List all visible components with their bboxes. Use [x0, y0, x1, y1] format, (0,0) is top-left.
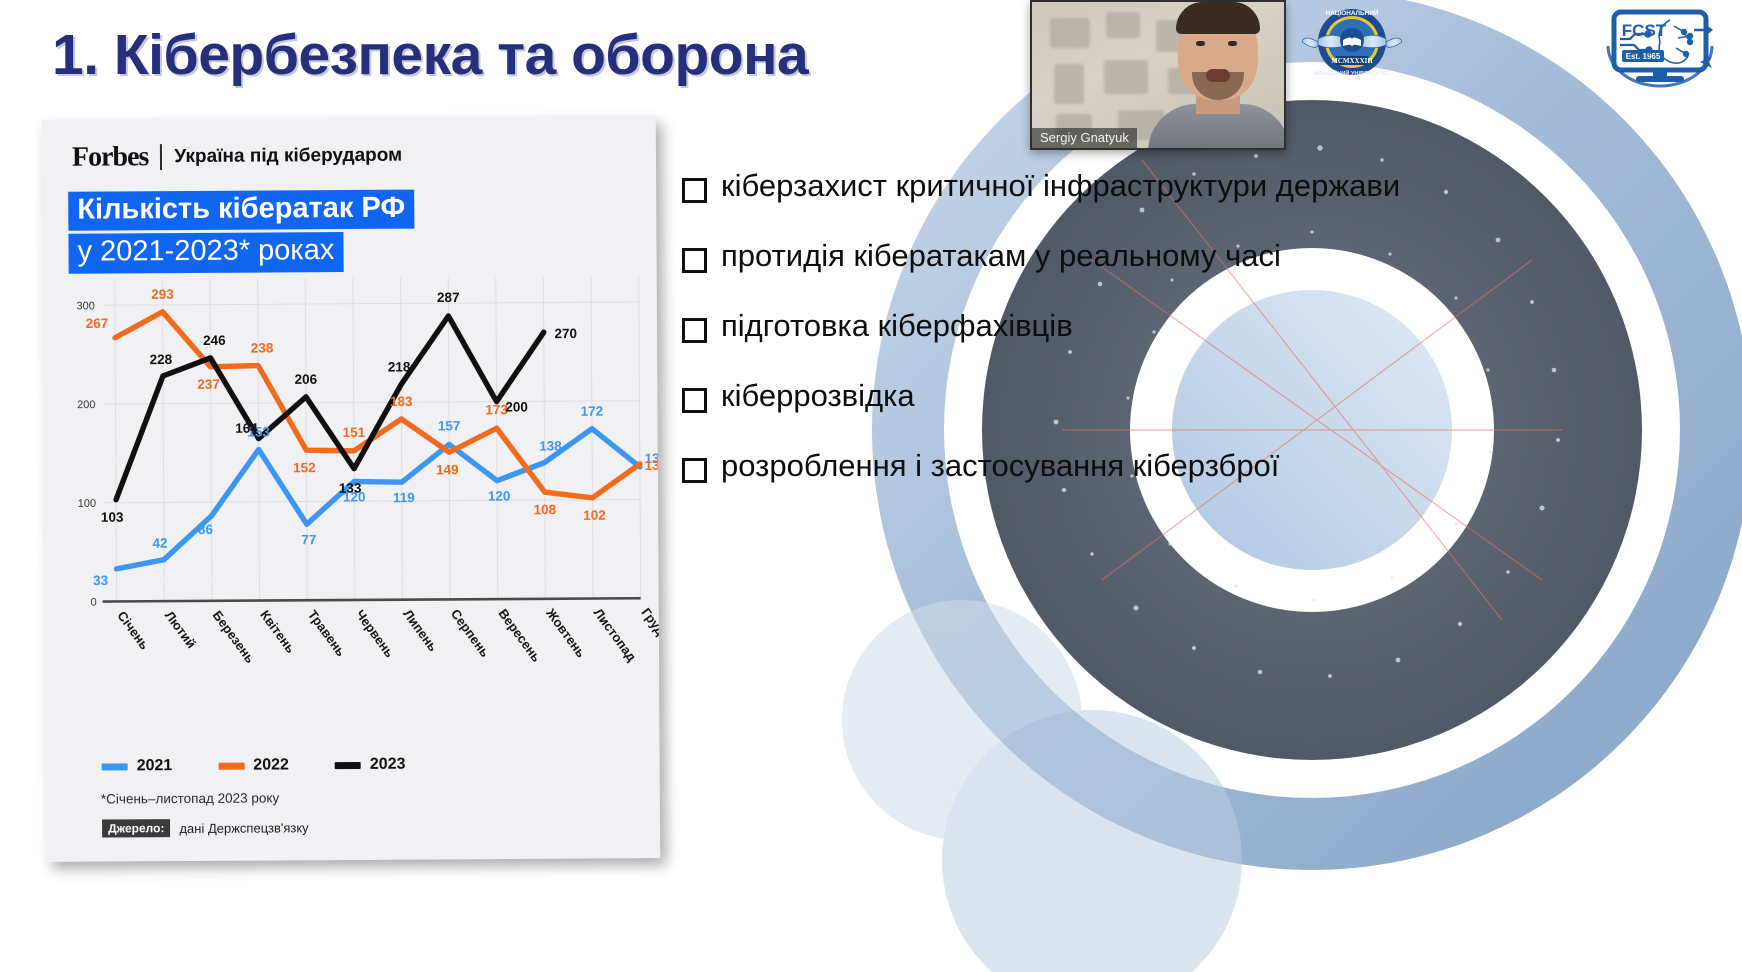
- svg-text:0: 0: [91, 597, 97, 609]
- svg-text:246: 246: [203, 333, 226, 348]
- video-participant-tile[interactable]: Sergiy Gnatyuk: [1030, 0, 1286, 150]
- chart-legend: 2021 2022 2023: [102, 756, 406, 776]
- legend-swatch-2023: [335, 761, 361, 768]
- chart-kicker: Україна під кіберударом: [174, 145, 402, 168]
- svg-text:164: 164: [235, 421, 258, 436]
- svg-text:237: 237: [197, 377, 220, 392]
- list-item: розроблення і застосування кіберзброї: [682, 448, 1582, 484]
- svg-text:102: 102: [583, 508, 606, 523]
- presentation-slide: 1. Кібербезпека та оборона Forbes Україн…: [0, 0, 1742, 972]
- source-text: дані Держспецзв'язку: [179, 820, 308, 836]
- svg-text:АВІАЦІЙНИЙ УНІВЕРСИТЕТ: АВІАЦІЙНИЙ УНІВЕРСИТЕТ: [1314, 69, 1391, 77]
- participant-name-label: Sergiy Gnatyuk: [1032, 128, 1137, 148]
- svg-text:Est. 1965: Est. 1965: [1626, 52, 1661, 61]
- svg-text:270: 270: [554, 326, 577, 341]
- chart-footnote: *Січень–листопад 2023 року: [101, 790, 279, 806]
- legend-item-2023: 2023: [335, 756, 406, 774]
- svg-text:287: 287: [437, 290, 460, 305]
- square-bullet-icon: [682, 178, 707, 203]
- svg-text:293: 293: [151, 287, 174, 302]
- svg-text:152: 152: [293, 460, 316, 475]
- svg-text:238: 238: [251, 340, 274, 355]
- bullet-list: кіберзахист критичної інфраструктури дер…: [682, 168, 1582, 518]
- svg-text:228: 228: [150, 352, 173, 367]
- fcst-logo: FCST Est. 1965: [1598, 6, 1722, 88]
- square-bullet-icon: [682, 248, 707, 273]
- bullet-text: кіберзахист критичної інфраструктури дер…: [721, 168, 1400, 204]
- svg-text:172: 172: [581, 404, 604, 419]
- list-item: підготовка кіберфахівців: [682, 308, 1582, 344]
- svg-text:Листопад: Листопад: [591, 605, 640, 664]
- list-item: кіберрозвідка: [682, 378, 1582, 414]
- chart-title-line1: Кількість кібератак РФ: [68, 190, 414, 232]
- svg-text:86: 86: [198, 522, 214, 537]
- svg-text:Липень: Липень: [400, 607, 441, 655]
- list-item: протидія кібератакам у реальному часі: [682, 238, 1582, 274]
- nau-logo: MCMXXXIII НАЦІОНАЛЬНИЙ АВІАЦІЙНИЙ УНІВЕР…: [1300, 6, 1404, 78]
- svg-text:133: 133: [339, 481, 362, 496]
- svg-text:200: 200: [505, 399, 528, 414]
- legend-swatch-2022: [218, 762, 244, 769]
- svg-text:Лютий: Лютий: [162, 608, 199, 651]
- forbes-chart-card: Forbes Україна під кіберударом Кількість…: [42, 116, 661, 862]
- svg-text:Жовтень: Жовтень: [542, 605, 588, 660]
- svg-text:138: 138: [539, 438, 562, 453]
- chart-title-block: Кількість кібератак РФ у 2021-2023* рока…: [68, 190, 414, 274]
- svg-text:Грудень: Грудень: [638, 605, 659, 656]
- legend-label-2021: 2021: [137, 757, 173, 775]
- svg-text:Березень: Березень: [210, 608, 258, 666]
- square-bullet-icon: [682, 388, 707, 413]
- svg-text:Січень: Січень: [114, 608, 152, 652]
- svg-text:103: 103: [101, 510, 124, 525]
- forbes-logo: Forbes: [72, 141, 149, 173]
- legend-label-2022: 2022: [253, 756, 289, 774]
- square-bullet-icon: [682, 318, 707, 343]
- svg-text:149: 149: [436, 462, 459, 477]
- source-badge: Джерело:: [102, 819, 170, 837]
- chart-title-line2: у 2021-2023* роках: [68, 233, 343, 274]
- bullet-text: розроблення і застосування кіберзброї: [721, 448, 1279, 484]
- svg-text:33: 33: [93, 573, 109, 588]
- svg-text:MCMXXXIII: MCMXXXIII: [1331, 57, 1373, 65]
- svg-text:77: 77: [301, 532, 316, 547]
- legend-item-2021: 2021: [102, 757, 173, 775]
- bullet-text: протидія кібератакам у реальному часі: [721, 238, 1281, 274]
- bullet-text: кіберрозвідка: [721, 378, 915, 414]
- svg-text:100: 100: [78, 498, 96, 510]
- legend-item-2022: 2022: [218, 756, 289, 774]
- svg-text:Травень: Травень: [305, 607, 349, 659]
- svg-text:157: 157: [438, 418, 461, 433]
- svg-text:Вересень: Вересень: [495, 606, 544, 665]
- svg-text:151: 151: [343, 425, 366, 440]
- svg-text:108: 108: [534, 502, 557, 517]
- svg-text:267: 267: [86, 316, 109, 331]
- svg-text:Серпень: Серпень: [448, 606, 493, 660]
- chart-header: Forbes Україна під кіберударом: [72, 140, 402, 174]
- svg-text:206: 206: [295, 372, 318, 387]
- svg-text:218: 218: [388, 359, 411, 374]
- svg-text:183: 183: [390, 394, 413, 409]
- legend-swatch-2021: [102, 763, 128, 770]
- header-divider: [160, 144, 162, 170]
- participant-avatar: [1148, 16, 1286, 150]
- svg-text:120: 120: [488, 489, 511, 504]
- chart-svg: 0100200300334286153771201191571201381721…: [43, 268, 660, 702]
- svg-text:42: 42: [152, 536, 167, 551]
- svg-text:Квітень: Квітень: [257, 607, 298, 655]
- list-item: кіберзахист критичної інфраструктури дер…: [682, 168, 1582, 204]
- page-title: 1. Кібербезпека та оборона: [52, 22, 808, 88]
- square-bullet-icon: [682, 458, 707, 483]
- chart-source: Джерело: дані Держспецзв'язку: [102, 818, 309, 837]
- bullet-text: підготовка кіберфахівців: [721, 308, 1073, 344]
- svg-text:119: 119: [393, 490, 415, 505]
- legend-label-2023: 2023: [370, 756, 406, 774]
- svg-text:Червень: Червень: [353, 607, 398, 660]
- svg-text:136: 136: [645, 458, 660, 473]
- svg-text:НАЦІОНАЛЬНИЙ: НАЦІОНАЛЬНИЙ: [1326, 8, 1379, 17]
- line-chart-plot: 0100200300334286153771201191571201381721…: [43, 268, 660, 702]
- svg-text:300: 300: [76, 300, 94, 312]
- svg-text:200: 200: [77, 399, 95, 411]
